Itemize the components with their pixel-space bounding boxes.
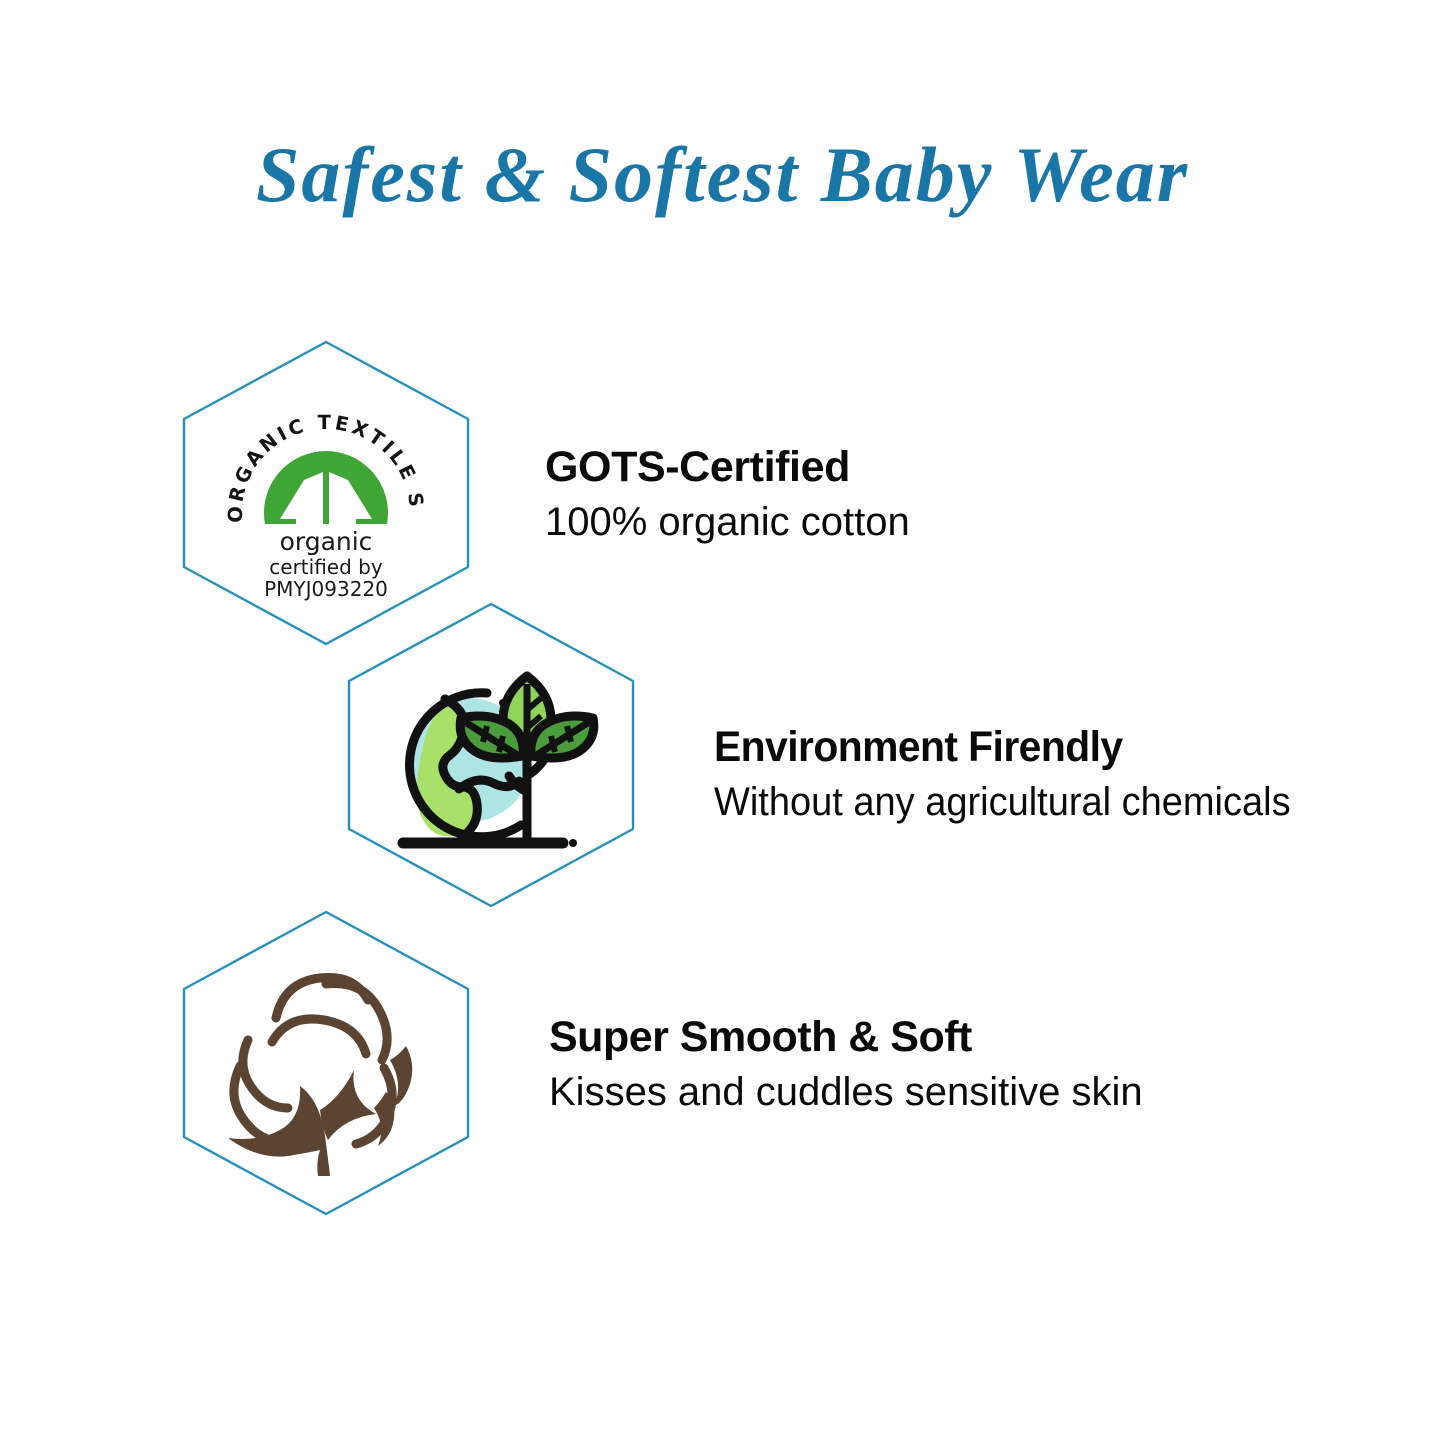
gots-certification-badge: GLOBAL ORGANIC TEXTILE STANDARD · GOTS ·… [176,372,476,601]
feature-subtitle-environment: Without any agricultural chemicals [714,780,1291,825]
feature-subtitle-gots: 100% organic cotton [545,500,910,545]
earth-plant-icon [341,600,641,910]
feature-title-gots: GOTS-Certified [545,443,910,492]
gots-license-code: PMYJ093220 [176,578,476,600]
cotton-boll-icon [176,908,476,1218]
feature-title-environment: Environment Firendly [714,723,1291,772]
gots-seal-icon: GLOBAL ORGANIC TEXTILE STANDARD · GOTS · [176,372,476,524]
feature-text-environment: Environment Firendly Without any agricul… [714,723,1321,825]
page-title: Safest & Softest Baby Wear [0,130,1445,220]
feature-title-cotton: Super Smooth & Soft [549,1013,1143,1062]
gots-label-organic: organic [176,528,476,556]
feature-subtitle-cotton: Kisses and cuddles sensitive skin [549,1070,1143,1115]
feature-text-cotton: Super Smooth & Soft Kisses and cuddles s… [549,1013,1143,1115]
gots-label-certified-by: certified by [176,556,476,578]
feature-text-gots: GOTS-Certified 100% organic cotton [545,443,910,545]
